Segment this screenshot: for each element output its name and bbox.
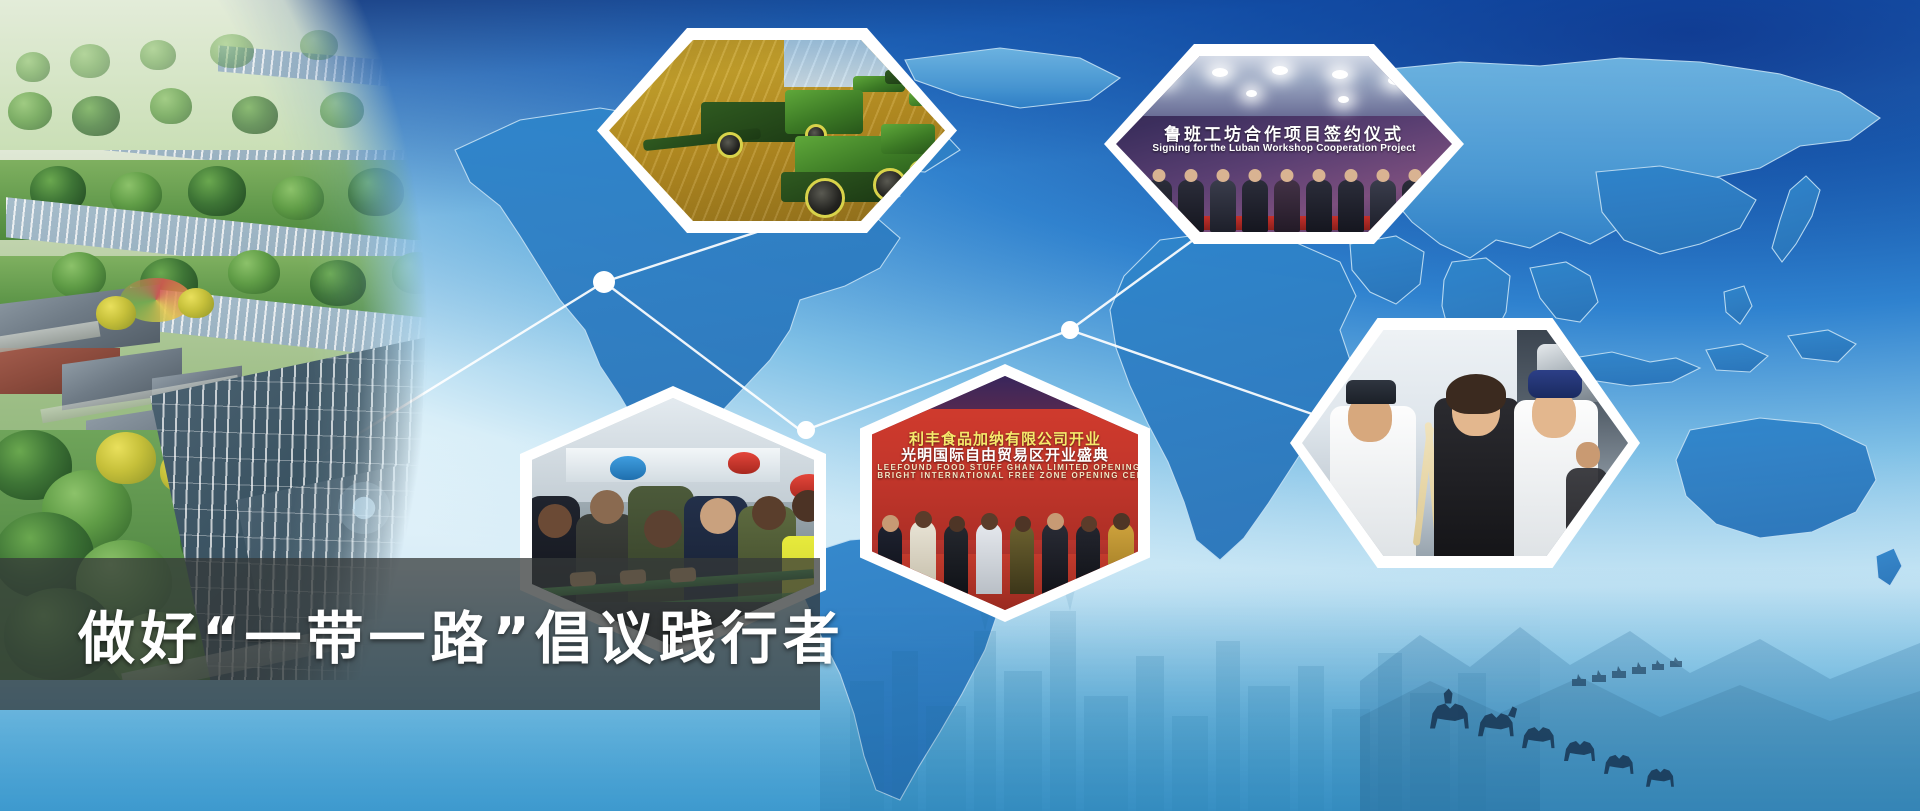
ceremony-banner-text: 利丰食品加纳有限公司开业 光明国际自由贸易区开业盛典 LEEFOUND FOOD… — [877, 432, 1132, 481]
luban-banner-text: 鲁班工坊合作项目签约仪式 Signing for the Luban Works… — [1123, 126, 1446, 154]
chef-cap-icon — [1528, 370, 1582, 398]
roof-logo-watermark — [338, 482, 390, 534]
luban-banner-en: Signing for the Luban Workshop Cooperati… — [1123, 144, 1446, 155]
ceremony-banner-cn-2: 光明国际自由贸易区开业盛典 — [877, 448, 1132, 464]
red-hardhat-icon — [728, 452, 760, 474]
ceremony-banner-en-2: BRIGHT INTERNATIONAL FREE ZONE OPENING C… — [877, 472, 1132, 480]
blue-hardhat-icon — [610, 456, 646, 480]
hair — [1446, 374, 1506, 414]
page-title: 做好“一带一路”倡议践行者 — [0, 558, 820, 710]
chef-cap-icon — [1346, 380, 1396, 404]
ceremony-banner-cn-1: 利丰食品加纳有限公司开业 — [877, 432, 1132, 448]
belt-and-road-hero-banner: 鲁班工坊合作项目签约仪式 Signing for the Luban Works… — [0, 0, 1920, 811]
luban-banner-cn: 鲁班工坊合作项目签约仪式 — [1123, 126, 1446, 144]
